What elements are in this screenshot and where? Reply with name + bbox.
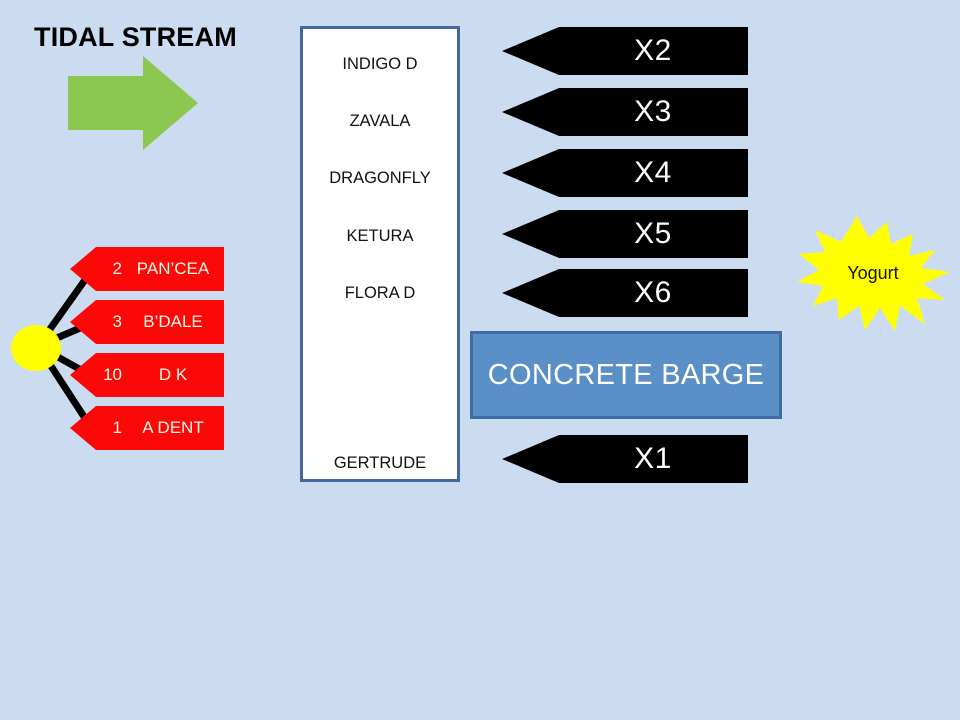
black-arrow-x2-label: X2 — [502, 27, 748, 75]
concrete-barge-label: CONCRETE BARGE — [488, 359, 765, 392]
concrete-barge[interactable]: CONCRETE BARGE — [470, 331, 782, 419]
vessel-pentagon-3-label: 10 D K — [70, 353, 224, 397]
black-arrow-x2[interactable]: X2 — [502, 27, 748, 75]
black-arrow-x6[interactable]: X6 — [502, 269, 748, 317]
vessel-number: 3 — [92, 312, 122, 332]
black-arrow-x5[interactable]: X5 — [502, 210, 748, 258]
vessel-pentagon-1-label: 2 PAN’CEA — [70, 247, 224, 291]
vessel-pentagon-1[interactable]: 2 PAN’CEA — [70, 247, 224, 291]
vessel-number: 2 — [92, 259, 122, 279]
name-list-box[interactable]: INDIGO D ZAVALA DRAGONFLY KETURA FLORA D… — [300, 26, 460, 482]
vessel-number: 10 — [92, 365, 122, 385]
vessel-pentagon-2-label: 3 B’DALE — [70, 300, 224, 344]
page-title: TIDAL STREAM — [34, 22, 237, 53]
vessel-pentagon-4-label: 1 A DENT — [70, 406, 224, 450]
tidal-stream-arrow-icon — [68, 56, 198, 150]
vessel-name: D K — [126, 365, 224, 385]
black-arrow-x4[interactable]: X4 — [502, 149, 748, 197]
yellow-node-icon — [11, 325, 61, 371]
list-item: KETURA — [303, 227, 457, 246]
vessel-name: PAN’CEA — [126, 259, 224, 279]
list-item: DRAGONFLY — [303, 169, 457, 188]
yogurt-burst[interactable]: Yogurt — [795, 212, 953, 334]
black-arrow-x1-label: X1 — [502, 435, 748, 483]
black-arrow-x4-label: X4 — [502, 149, 748, 197]
vessel-number: 1 — [92, 418, 122, 438]
slide-canvas: TIDAL STREAM 2 PAN’CEA — [0, 0, 960, 720]
black-arrow-x5-label: X5 — [502, 210, 748, 258]
vessel-pentagon-4[interactable]: 1 A DENT — [70, 406, 224, 450]
yogurt-burst-label: Yogurt — [795, 212, 953, 334]
black-arrow-x3[interactable]: X3 — [502, 88, 748, 136]
list-item: INDIGO D — [303, 55, 457, 74]
black-arrow-x1[interactable]: X1 — [502, 435, 748, 483]
vessel-name: B’DALE — [126, 312, 224, 332]
black-arrow-x3-label: X3 — [502, 88, 748, 136]
black-arrow-x6-label: X6 — [502, 269, 748, 317]
list-item: ZAVALA — [303, 112, 457, 131]
list-item: FLORA D — [303, 284, 457, 303]
vessel-pentagon-2[interactable]: 3 B’DALE — [70, 300, 224, 344]
vessel-name: A DENT — [126, 418, 224, 438]
list-item: GERTRUDE — [303, 454, 457, 473]
vessel-pentagon-3[interactable]: 10 D K — [70, 353, 224, 397]
